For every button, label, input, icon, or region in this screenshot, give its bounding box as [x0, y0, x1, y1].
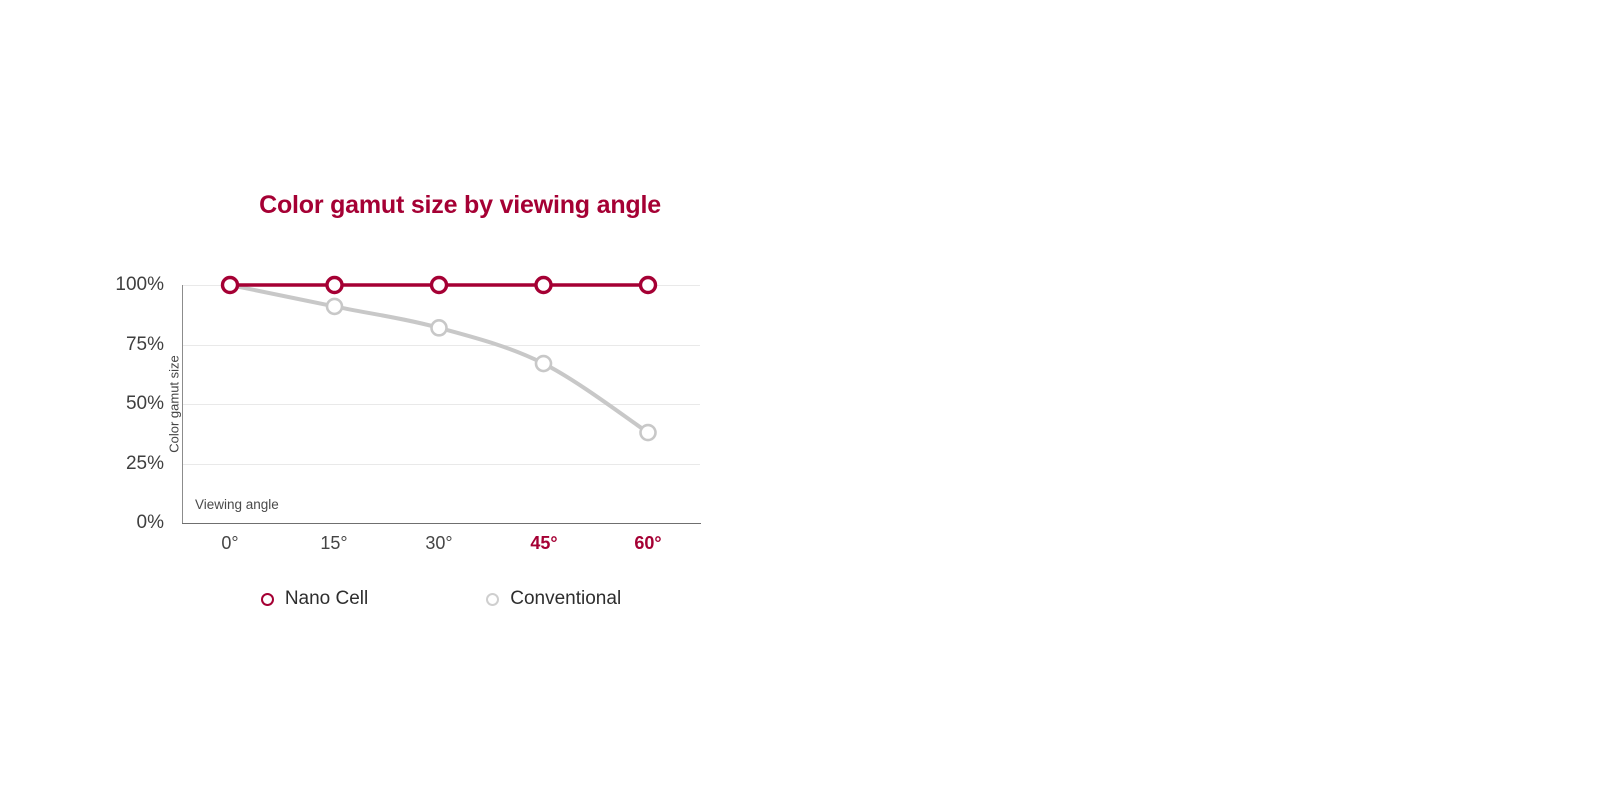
conventional-point-30deg [432, 320, 447, 335]
legend-label-nano-cell: Nano Cell [285, 588, 368, 610]
series-nano-cell [223, 278, 656, 293]
nano-cell-point-60deg [641, 278, 656, 293]
chart-figure: Color gamut size by viewing angle 100% 7… [0, 0, 1600, 800]
legend-item-conventional[interactable]: Conventional [486, 588, 621, 610]
legend-marker-conventional [486, 593, 499, 606]
conventional-point-45deg [536, 356, 551, 371]
conventional-markers [223, 278, 656, 441]
conventional-line [230, 285, 648, 433]
nano-cell-point-45deg [536, 278, 551, 293]
chart-legend: Nano Cell Conventional [182, 588, 700, 610]
nano-cell-point-30deg [432, 278, 447, 293]
legend-item-nano-cell[interactable]: Nano Cell [261, 588, 368, 610]
conventional-point-60deg [641, 425, 656, 440]
nano-cell-point-0deg [223, 278, 238, 293]
legend-label-conventional: Conventional [510, 588, 621, 610]
legend-marker-nano-cell [261, 593, 274, 606]
nano-cell-point-15deg [327, 278, 342, 293]
series-layer [0, 0, 1600, 800]
conventional-point-15deg [327, 299, 342, 314]
series-conventional [223, 278, 656, 441]
